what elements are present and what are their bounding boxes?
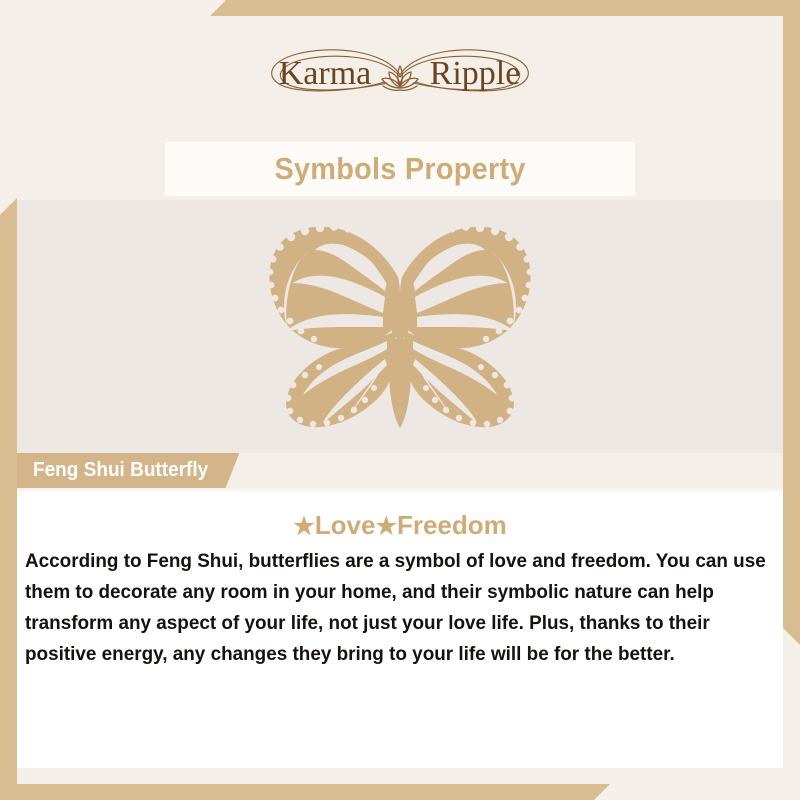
frame-accent-bottom [0, 784, 610, 800]
hero-section [17, 200, 783, 453]
frame-accent-top [210, 0, 800, 16]
tagline-word-freedom: Freedom [397, 510, 507, 540]
description-paragraph: According to Feng Shui, butterflies are … [25, 546, 774, 670]
lotus-infinity-icon: Karma Ripple [235, 36, 565, 114]
page-root: Karma Ripple Symbols Property [0, 0, 800, 800]
tagline: ★Love★Freedom [17, 510, 783, 541]
section-ribbon: Feng Shui Butterfly [17, 453, 239, 488]
star-icon-mid: ★ [375, 513, 397, 540]
butterfly-icon [235, 219, 565, 434]
star-icon-left: ★ [293, 513, 315, 540]
title-banner: Symbols Property [165, 142, 635, 196]
content-card: ★Love★Freedom According to Feng Shui, bu… [17, 488, 783, 768]
brand-logo: Karma Ripple [0, 34, 800, 116]
brand-word-right: Ripple [430, 55, 521, 92]
brand-word-left: Karma [279, 55, 372, 92]
page-title: Symbols Property [274, 151, 525, 187]
tagline-word-love: Love [315, 510, 376, 540]
frame-accent-left [0, 198, 17, 800]
section-ribbon-label: Feng Shui Butterfly [33, 459, 208, 482]
butterfly-holder [17, 200, 783, 453]
